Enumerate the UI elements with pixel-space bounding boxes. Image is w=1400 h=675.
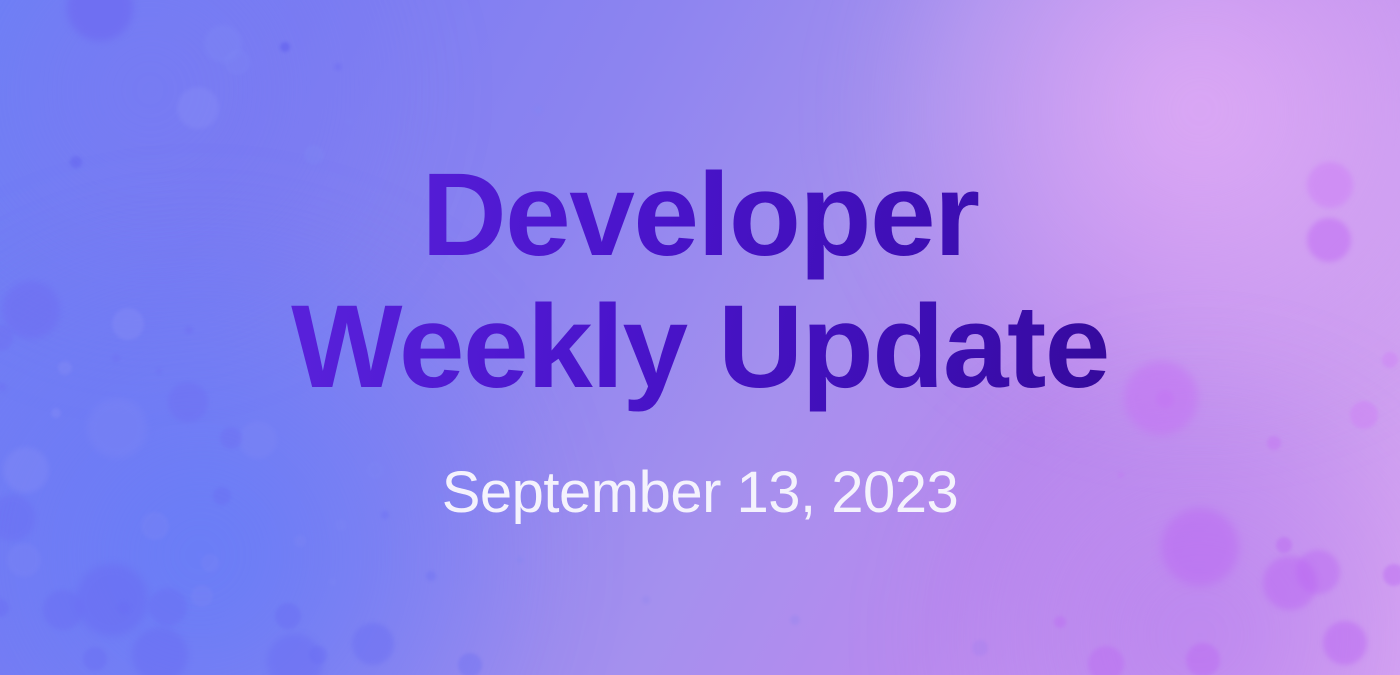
page-title-line-1: Developer	[421, 149, 978, 281]
page-title-line-2: Weekly Update	[291, 281, 1109, 413]
developer-weekly-update-banner: DeveloperWeekly Update September 13, 202…	[0, 0, 1400, 675]
banner-content: DeveloperWeekly Update September 13, 202…	[0, 0, 1400, 675]
banner-date: September 13, 2023	[442, 459, 959, 526]
page-title: DeveloperWeekly Update	[291, 149, 1109, 413]
